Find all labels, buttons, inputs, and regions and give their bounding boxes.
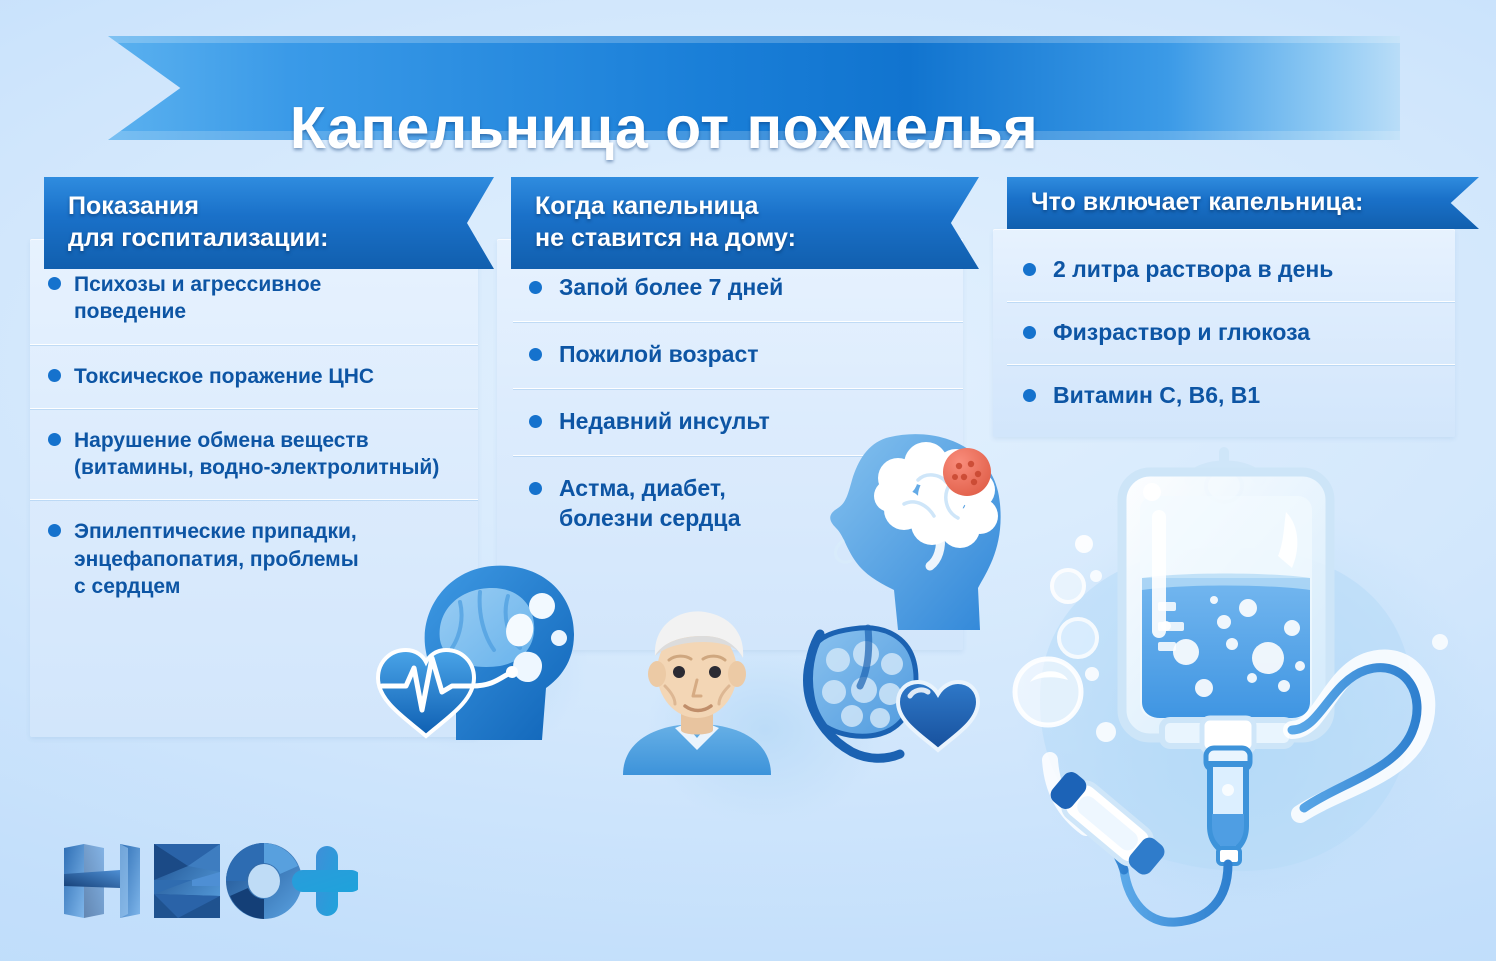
logo-letter-n <box>64 844 140 918</box>
list-item-line: 2 литра раствора в день <box>1053 255 1437 285</box>
bullet-icon <box>529 415 542 428</box>
list-item-line: Астма, диабет, <box>559 474 945 504</box>
heading-line: Когда капельница <box>535 191 921 223</box>
list-contents: 2 литра раствора в день Физраствор и глю… <box>993 229 1455 427</box>
list-item-line: (витамины, водно-электролитный) <box>74 454 460 481</box>
panel-background: Психозы и агрессивное поведение Токсичес… <box>30 239 478 737</box>
list-item: Эпилептические припадки, энцефапопатия, … <box>30 500 478 618</box>
list-item: Витамин С, В6, В1 <box>1007 365 1455 427</box>
list-item-line: Нарушение обмена веществ <box>74 427 460 454</box>
list-item-line: Недавний инсульт <box>559 407 945 437</box>
bullet-icon <box>529 281 542 294</box>
heading-contents: Что включает капельница: <box>1007 177 1479 229</box>
bullet-icon <box>48 433 61 446</box>
background-blob <box>1010 560 1450 960</box>
list-item-line: с сердцем <box>74 573 460 600</box>
list-item: Физраствор и глюкоза <box>1007 302 1455 365</box>
list-item-line: поведение <box>74 298 460 325</box>
bullet-icon <box>48 524 61 537</box>
list-item-line: Пожилой возраст <box>559 340 945 370</box>
list-item: 2 литра раствора в день <box>1007 239 1455 302</box>
list-item: Нарушение обмена веществ (витамины, водн… <box>30 409 478 501</box>
list-item: Токсическое поражение ЦНС <box>30 345 478 409</box>
heading-line: для госпитализации: <box>68 223 436 255</box>
logo-plus <box>292 846 358 916</box>
list-item: Недавний инсульт <box>513 389 963 456</box>
iv-drip-bag-icon <box>1000 430 1490 955</box>
bullet-icon <box>1023 389 1036 402</box>
list-item-line: Токсическое поражение ЦНС <box>74 363 460 390</box>
heading-line: Показания <box>68 191 436 223</box>
heading-line: не ставится на дому: <box>535 223 921 255</box>
list-not-at-home: Запой более 7 дней Пожилой возраст Недав… <box>497 239 963 551</box>
bullet-icon <box>1023 263 1036 276</box>
list-item-line: Эпилептические припадки, <box>74 518 460 545</box>
list-item-line: Психозы и агрессивное <box>74 271 460 298</box>
heading-line: Что включает капельница: <box>1031 187 1421 219</box>
page-title: Капельница от похмелья <box>108 76 1400 180</box>
infographic-poster: Капельница от похмелья Психозы и агресси… <box>0 0 1496 961</box>
heading-hospitalization: Показания для госпитализации: <box>44 177 494 269</box>
bullet-icon <box>1023 326 1036 339</box>
list-hospitalization: Психозы и агрессивное поведение Токсичес… <box>30 239 478 618</box>
panel-background: Запой более 7 дней Пожилой возраст Недав… <box>497 239 963 650</box>
brand-logo-neo-plus <box>58 840 358 922</box>
list-item-line: болезни сердца <box>559 504 945 534</box>
bullet-icon <box>48 369 61 382</box>
list-item-line: Физраствор и глюкоза <box>1053 318 1437 348</box>
logo-letter-o <box>226 843 302 919</box>
list-item-line: энцефапопатия, проблемы <box>74 546 460 573</box>
heading-not-at-home: Когда капельница не ставится на дому: <box>511 177 979 269</box>
bullet-icon <box>529 482 542 495</box>
panel-background: 2 литра раствора в день Физраствор и глю… <box>993 229 1455 437</box>
list-item-line: Витамин С, В6, В1 <box>1053 381 1437 411</box>
bullet-icon <box>48 277 61 290</box>
list-item: Пожилой возраст <box>513 322 963 389</box>
list-item: Астма, диабет, болезни сердца <box>513 456 963 552</box>
logo-letter-e <box>154 844 220 918</box>
bullet-icon <box>529 348 542 361</box>
list-item-line: Запой более 7 дней <box>559 273 945 303</box>
